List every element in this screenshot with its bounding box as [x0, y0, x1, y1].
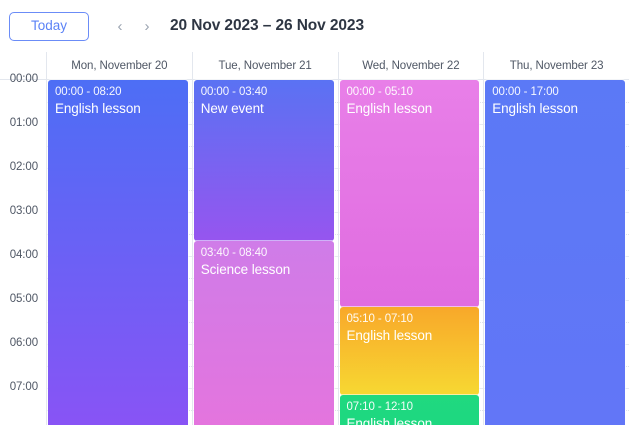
event-time: 00:00 - 05:10: [347, 85, 473, 99]
time-gutter: 00:0001:0002:0003:0004:0005:0006:0007:00: [0, 52, 46, 425]
time-label: 00:00: [10, 73, 38, 85]
time-label: 04:00: [10, 249, 38, 261]
time-label: 05:00: [10, 293, 38, 305]
time-label: 06:00: [10, 337, 38, 349]
event-title: New event: [201, 99, 327, 118]
day-body[interactable]: 00:00 - 17:00English lesson: [484, 80, 629, 425]
event-time: 05:10 - 07:10: [347, 312, 473, 326]
event-time: 03:40 - 08:40: [201, 246, 327, 260]
day-column: Mon, November 2000:00 - 08:20English les…: [47, 52, 193, 425]
day-header[interactable]: Thu, November 23: [484, 52, 629, 80]
time-label: 07:00: [10, 381, 38, 393]
calendar-event[interactable]: 03:40 - 08:40Science lesson: [194, 241, 334, 425]
event-time: 07:10 - 12:10: [347, 400, 473, 414]
date-range-title: 20 Nov 2023 – 26 Nov 2023: [170, 17, 364, 35]
calendar-event[interactable]: 00:00 - 08:20English lesson: [48, 80, 188, 425]
week-calendar: 00:0001:0002:0003:0004:0005:0006:0007:00…: [0, 52, 629, 425]
day-body[interactable]: 00:00 - 05:10English lesson05:10 - 07:10…: [339, 80, 484, 425]
event-title: English lesson: [347, 99, 473, 118]
day-header[interactable]: Tue, November 21: [193, 52, 338, 80]
calendar-event[interactable]: 00:00 - 05:10English lesson: [340, 80, 480, 307]
event-title: English lesson: [347, 326, 473, 345]
day-header[interactable]: Wed, November 22: [339, 52, 484, 80]
event-title: English lesson: [55, 99, 181, 118]
day-body[interactable]: 00:00 - 03:40New event03:40 - 08:40Scien…: [193, 80, 338, 425]
calendar-event[interactable]: 07:10 - 12:10English lesson: [340, 395, 480, 425]
day-column: Thu, November 2300:00 - 17:00English les…: [484, 52, 629, 425]
day-column: Wed, November 2200:00 - 05:10English les…: [339, 52, 485, 425]
event-title: English lesson: [492, 99, 618, 118]
day-body[interactable]: 00:00 - 08:20English lesson: [47, 80, 192, 425]
calendar-event[interactable]: 00:00 - 03:40New event: [194, 80, 334, 241]
event-title: Science lesson: [201, 260, 327, 279]
day-column: Tue, November 2100:00 - 03:40New event03…: [193, 52, 339, 425]
chevron-left-icon[interactable]: ‹: [107, 11, 133, 41]
event-time: 00:00 - 17:00: [492, 85, 618, 99]
today-button[interactable]: Today: [9, 12, 89, 41]
event-title: English lesson: [347, 414, 473, 425]
event-time: 00:00 - 08:20: [55, 85, 181, 99]
chevron-right-icon[interactable]: ›: [134, 11, 160, 41]
time-label: 02:00: [10, 161, 38, 173]
time-label: 03:00: [10, 205, 38, 217]
calendar-toolbar: Today ‹ › 20 Nov 2023 – 26 Nov 2023: [0, 0, 629, 52]
time-label: 01:00: [10, 117, 38, 129]
day-grid: Mon, November 2000:00 - 08:20English les…: [46, 52, 629, 425]
event-time: 00:00 - 03:40: [201, 85, 327, 99]
calendar-event[interactable]: 05:10 - 07:10English lesson: [340, 307, 480, 395]
calendar-event[interactable]: 00:00 - 17:00English lesson: [485, 80, 625, 425]
day-header[interactable]: Mon, November 20: [47, 52, 192, 80]
